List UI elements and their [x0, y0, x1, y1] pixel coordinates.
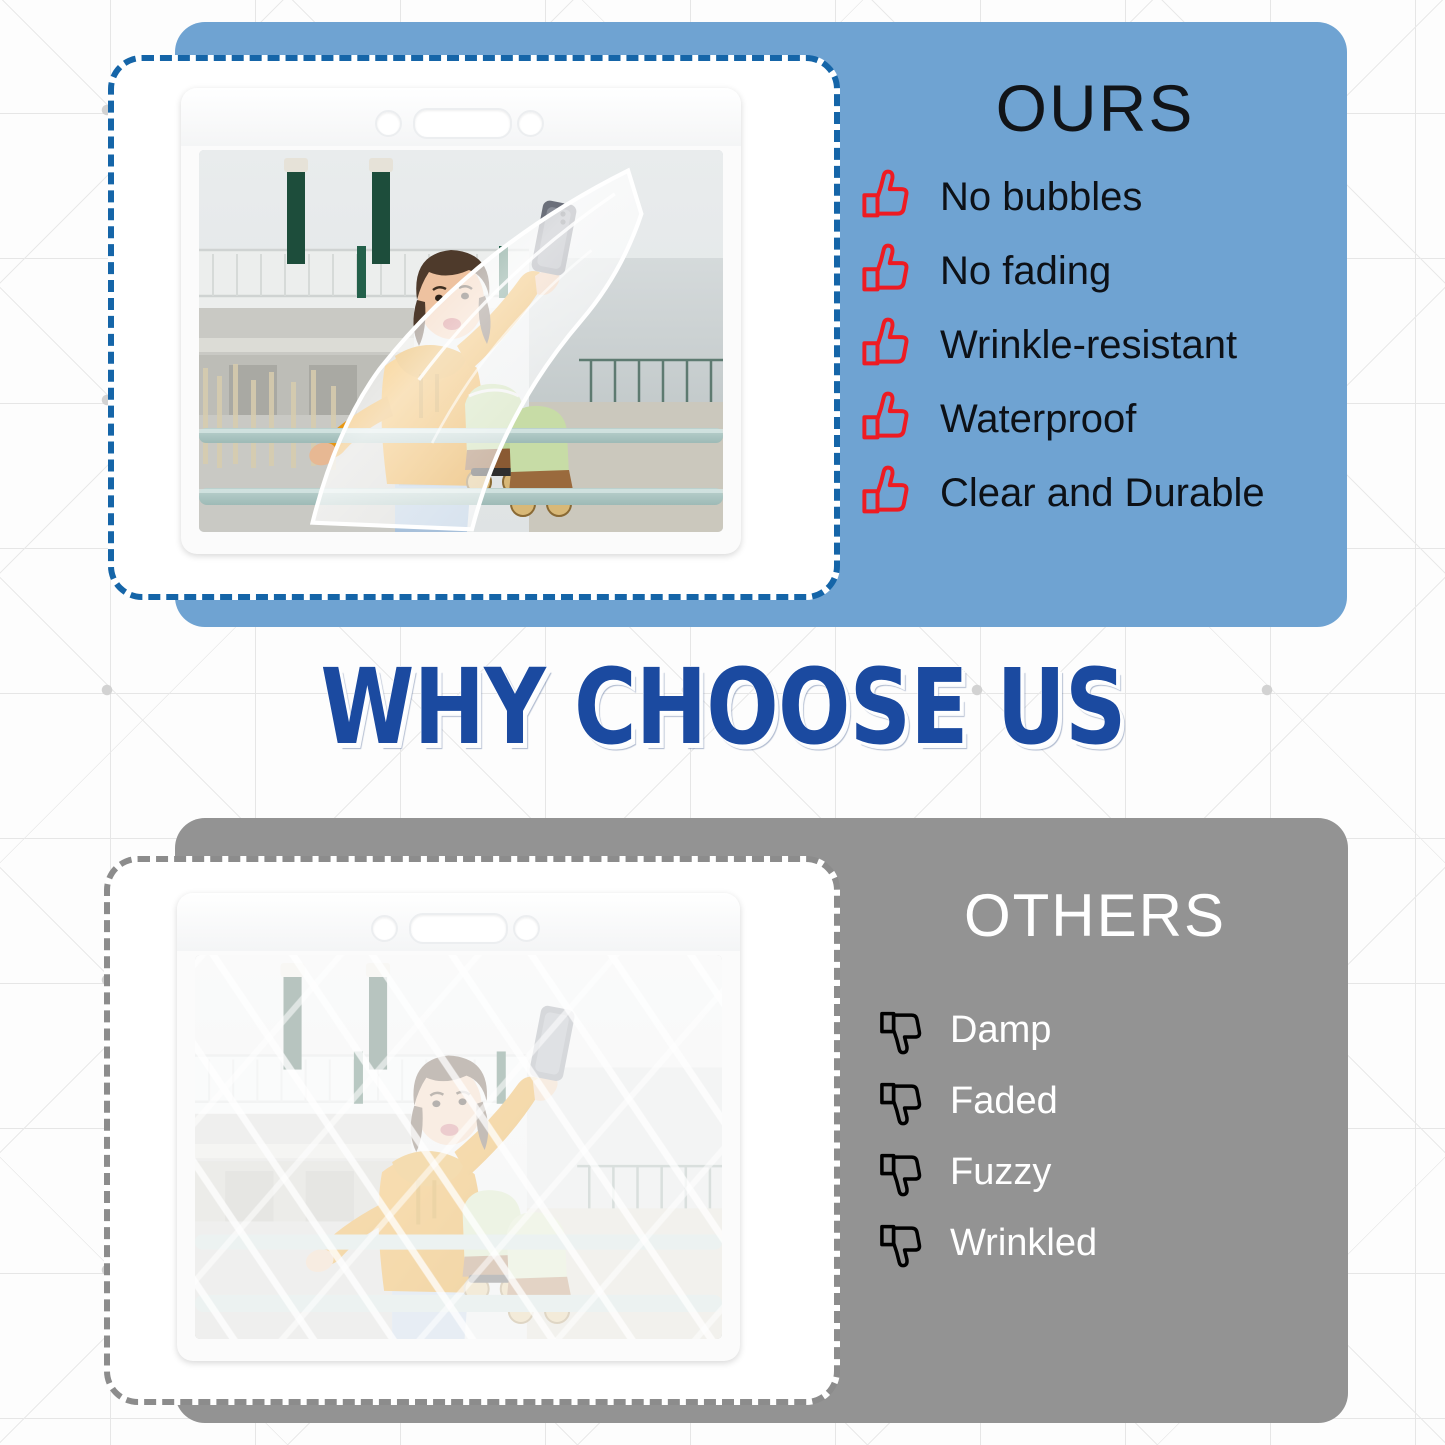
- horizontal-slot-icon: [413, 108, 512, 139]
- list-item: Wrinkled: [878, 1218, 1330, 1268]
- thumbs-down-icon: [878, 1076, 928, 1126]
- round-hole-icon: [371, 915, 398, 942]
- round-hole-icon: [517, 110, 544, 137]
- others-photo: [195, 955, 722, 1339]
- list-item-label: No bubbles: [940, 175, 1142, 220]
- thumbs-up-icon: [860, 465, 916, 521]
- list-item-label: Waterproof: [940, 397, 1136, 442]
- others-feature-list: Damp Faded Fuzzy: [860, 1005, 1330, 1268]
- thumbs-down-icon: [878, 1005, 928, 1055]
- thumbs-up-icon: [860, 317, 916, 373]
- others-badge-holder: [177, 893, 740, 1361]
- thumbs-up-icon: [860, 391, 916, 447]
- list-item-label: Damp: [950, 1009, 1051, 1052]
- others-content-column: OTHERS Damp Faded: [860, 884, 1330, 1289]
- list-item-label: Wrinkle-resistant: [940, 323, 1237, 368]
- ours-content-column: OURS No bubbles No fadi: [860, 74, 1330, 539]
- thumbs-up-icon: [860, 243, 916, 299]
- round-hole-icon: [375, 110, 402, 137]
- others-heading: OTHERS: [860, 884, 1330, 947]
- horizontal-slot-icon: [409, 913, 508, 944]
- banner: WHY CHOOSE US: [0, 655, 1445, 759]
- list-item: No bubbles: [860, 169, 1330, 225]
- thumbs-down-icon: [878, 1147, 928, 1197]
- thumbs-up-icon: [860, 169, 916, 225]
- ours-badge-holder: [181, 88, 741, 554]
- ours-heading: OURS: [860, 74, 1330, 143]
- list-item: Damp: [878, 1005, 1330, 1055]
- list-item-label: Faded: [950, 1080, 1058, 1123]
- list-item: Fuzzy: [878, 1147, 1330, 1197]
- list-item-label: Wrinkled: [950, 1222, 1097, 1265]
- list-item: Clear and Durable: [860, 465, 1330, 521]
- list-item: Faded: [878, 1076, 1330, 1126]
- infographic-canvas: OURS No bubbles No fadi: [0, 0, 1445, 1445]
- round-hole-icon: [513, 915, 540, 942]
- list-item-label: Fuzzy: [950, 1151, 1051, 1194]
- list-item: Wrinkle-resistant: [860, 317, 1330, 373]
- thumbs-down-icon: [878, 1218, 928, 1268]
- list-item: No fading: [860, 243, 1330, 299]
- list-item-label: Clear and Durable: [940, 471, 1265, 516]
- ours-feature-list: No bubbles No fading W: [860, 169, 1330, 521]
- list-item: Waterproof: [860, 391, 1330, 447]
- ours-photo: [199, 150, 723, 532]
- banner-title: WHY CHOOSE US: [320, 655, 1125, 759]
- list-item-label: No fading: [940, 249, 1111, 294]
